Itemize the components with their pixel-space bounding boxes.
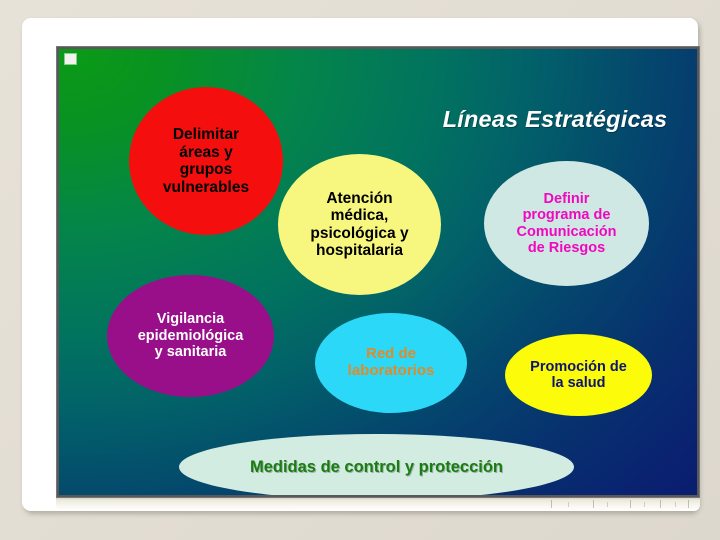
- bubble-label: Medidas de control y protección: [250, 458, 503, 477]
- bubble-line: laboratorios: [348, 362, 435, 379]
- bubble-line: médica,: [331, 207, 389, 224]
- bubble-line: epidemiológica: [138, 328, 244, 344]
- slide-viewer-frame: Líneas Estratégicas Delimitar áreas y gr…: [22, 18, 698, 511]
- bubble-line: Vigilancia: [157, 311, 224, 327]
- bubble-line: Delimitar: [173, 126, 239, 143]
- bubble-line: programa de: [523, 207, 611, 223]
- bubble-label: Red de laboratorios: [348, 346, 435, 380]
- ruler-tick: [660, 500, 661, 508]
- bubble-line: la salud: [552, 375, 606, 391]
- ruler-tick: [593, 500, 594, 508]
- bubble-line: hospitalaria: [316, 242, 403, 259]
- bubble-line: Red de: [366, 345, 416, 362]
- ruler-tick: [607, 502, 608, 507]
- ruler-tick: [644, 502, 645, 507]
- presentation-slide[interactable]: Líneas Estratégicas Delimitar áreas y gr…: [59, 49, 697, 495]
- bubble-line: Comunicación: [517, 224, 617, 240]
- page-background: Líneas Estratégicas Delimitar áreas y gr…: [0, 0, 720, 540]
- ruler-strip: [56, 497, 700, 511]
- ruler-tick: [688, 500, 689, 508]
- slide-title: Líneas Estratégicas: [415, 106, 695, 133]
- bubble-medidas-control-proteccion[interactable]: Medidas de control y protección: [179, 434, 574, 495]
- bubble-line: Atención: [326, 190, 392, 207]
- bubble-vigilancia-epidemiologica[interactable]: Vigilancia epidemiológica y sanitaria: [107, 275, 274, 397]
- slide-corner-marker-icon: [65, 54, 76, 64]
- bubble-delimitar-areas[interactable]: Delimitar áreas y grupos vulnerables: [129, 87, 283, 235]
- bubble-line: psicológica y: [310, 225, 408, 242]
- bubble-label: Promoción de la salud: [530, 359, 627, 392]
- bubble-line: de Riesgos: [528, 240, 605, 256]
- bubble-definir-programa-comunicacion[interactable]: Definir programa de Comunicación de Ries…: [484, 161, 649, 286]
- ruler-tick: [551, 500, 552, 508]
- slide-border: Líneas Estratégicas Delimitar áreas y gr…: [56, 46, 700, 498]
- ruler-tick: [568, 502, 569, 507]
- bubble-line: áreas y: [179, 144, 232, 161]
- bubble-label: Atención médica, psicológica y hospitala…: [310, 190, 408, 260]
- bubble-promocion-salud[interactable]: Promoción de la salud: [505, 334, 652, 416]
- bubble-line: vulnerables: [163, 179, 249, 196]
- bubble-red-laboratorios[interactable]: Red de laboratorios: [315, 313, 467, 413]
- bubble-label: Vigilancia epidemiológica y sanitaria: [138, 311, 244, 360]
- bubble-line: y sanitaria: [155, 344, 227, 360]
- bubble-line: Definir: [544, 191, 590, 207]
- bubble-line: Promoción de: [530, 359, 627, 375]
- ruler-tick: [630, 500, 631, 508]
- ruler-tick: [675, 502, 676, 507]
- bubble-label: Definir programa de Comunicación de Ries…: [517, 191, 617, 257]
- bubble-line: grupos: [180, 161, 233, 178]
- bubble-label: Delimitar áreas y grupos vulnerables: [163, 126, 249, 196]
- bubble-atencion-medica[interactable]: Atención médica, psicológica y hospitala…: [278, 154, 441, 295]
